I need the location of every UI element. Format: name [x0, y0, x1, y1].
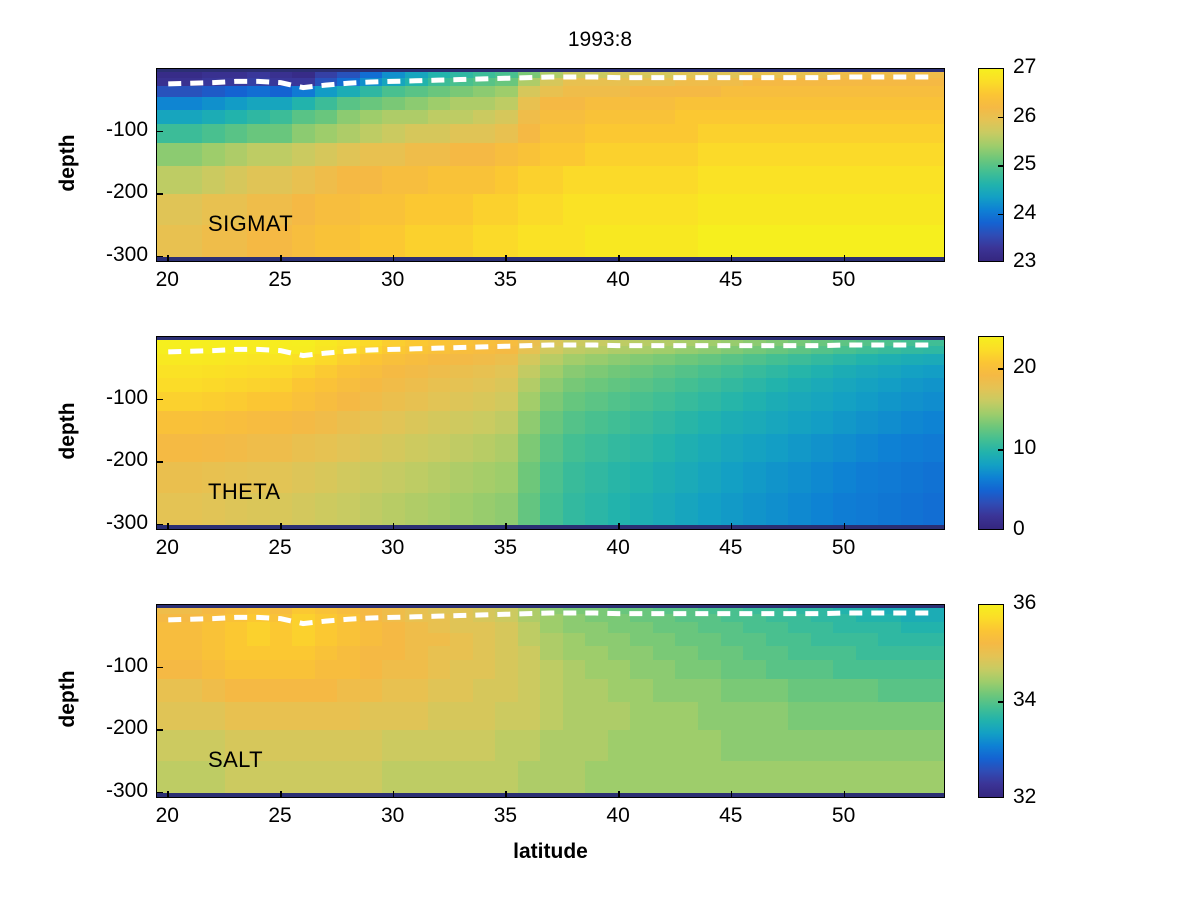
colorbar-tick-label: 25 — [1013, 152, 1036, 176]
y-axis-label: depth — [56, 83, 80, 243]
y-tick-label: -300 — [64, 511, 148, 535]
colorbar-tick-mark — [998, 165, 1004, 167]
x-tick-label: 30 — [363, 268, 423, 292]
colorbar-tick-label: 27 — [1013, 55, 1036, 79]
x-axis-label: latitude — [156, 840, 945, 864]
x-tick-label: 35 — [475, 268, 535, 292]
y-tick-label: -300 — [64, 243, 148, 267]
x-tick-mark — [618, 791, 620, 798]
x-tick-label: 45 — [701, 536, 761, 560]
colorbar-theta — [978, 336, 1004, 530]
x-tick-label: 30 — [363, 804, 423, 828]
y-tick-mark — [156, 792, 163, 794]
x-tick-label: 45 — [701, 804, 761, 828]
x-tick-label: 20 — [137, 804, 197, 828]
x-tick-mark — [844, 523, 846, 530]
x-tick-label: 50 — [814, 536, 874, 560]
x-tick-label: 40 — [588, 268, 648, 292]
x-tick-label: 25 — [250, 536, 310, 560]
y-tick-mark — [156, 131, 163, 133]
x-tick-mark — [167, 791, 169, 798]
x-tick-mark — [731, 523, 733, 530]
y-tick-mark — [156, 399, 163, 401]
colorbar-tick-mark — [998, 368, 1004, 370]
x-tick-mark — [731, 255, 733, 262]
x-tick-mark — [167, 523, 169, 530]
panel-salt — [156, 604, 945, 798]
colorbar-tick-label: 23 — [1013, 249, 1036, 273]
y-axis-label: depth — [56, 351, 80, 511]
y-tick-mark — [156, 256, 163, 258]
colorbar-tick-mark — [998, 214, 1004, 216]
y-tick-mark — [156, 461, 163, 463]
figure-canvas: 1993:8 SIGMAT-100-200-30020253035404550d… — [0, 0, 1200, 900]
y-tick-label: -300 — [64, 779, 148, 803]
x-tick-mark — [844, 255, 846, 262]
colorbar-tick-label: 0 — [1013, 517, 1025, 541]
panel-label-theta: THETA — [208, 479, 280, 505]
x-tick-mark — [731, 791, 733, 798]
y-tick-mark — [156, 729, 163, 731]
x-tick-mark — [167, 255, 169, 262]
x-tick-mark — [393, 255, 395, 262]
colorbar-tick-label: 24 — [1013, 201, 1036, 225]
x-tick-label: 20 — [137, 268, 197, 292]
y-tick-mark — [156, 667, 163, 669]
x-tick-label: 50 — [814, 804, 874, 828]
x-tick-label: 40 — [588, 536, 648, 560]
colorbar-tick-mark — [998, 701, 1004, 703]
y-tick-mark — [156, 193, 163, 195]
x-tick-mark — [280, 791, 282, 798]
colorbar-tick-label: 10 — [1013, 436, 1036, 460]
x-tick-mark — [280, 255, 282, 262]
colorbar-tick-label: 20 — [1013, 355, 1036, 379]
x-tick-mark — [618, 523, 620, 530]
y-tick-mark — [156, 524, 163, 526]
x-tick-label: 35 — [475, 804, 535, 828]
panel-label-sigmat: SIGMAT — [208, 211, 293, 237]
x-tick-label: 30 — [363, 536, 423, 560]
axes-salt — [156, 604, 945, 798]
colorbar-tick-label: 26 — [1013, 104, 1036, 128]
x-tick-mark — [505, 791, 507, 798]
colorbar-tick-mark — [998, 117, 1004, 119]
x-tick-label: 35 — [475, 536, 535, 560]
x-tick-label: 45 — [701, 268, 761, 292]
x-tick-label: 50 — [814, 268, 874, 292]
mixed-layer-depth-line — [157, 605, 944, 797]
colorbar-tick-label: 32 — [1013, 785, 1036, 809]
x-tick-label: 25 — [250, 804, 310, 828]
x-tick-mark — [505, 255, 507, 262]
x-tick-mark — [280, 523, 282, 530]
y-axis-label: depth — [56, 619, 80, 779]
x-tick-label: 40 — [588, 804, 648, 828]
x-tick-label: 25 — [250, 268, 310, 292]
colorbar-tick-label: 34 — [1013, 688, 1036, 712]
colorbar-tick-mark — [998, 449, 1004, 451]
colorbar-gradient — [979, 337, 1003, 529]
page-title: 1993:8 — [0, 28, 1200, 52]
colorbar-tick-label: 36 — [1013, 591, 1036, 615]
panel-label-salt: SALT — [208, 747, 263, 773]
x-tick-mark — [844, 791, 846, 798]
x-tick-mark — [393, 791, 395, 798]
x-tick-mark — [393, 523, 395, 530]
x-tick-mark — [618, 255, 620, 262]
x-tick-label: 20 — [137, 536, 197, 560]
x-tick-mark — [505, 523, 507, 530]
